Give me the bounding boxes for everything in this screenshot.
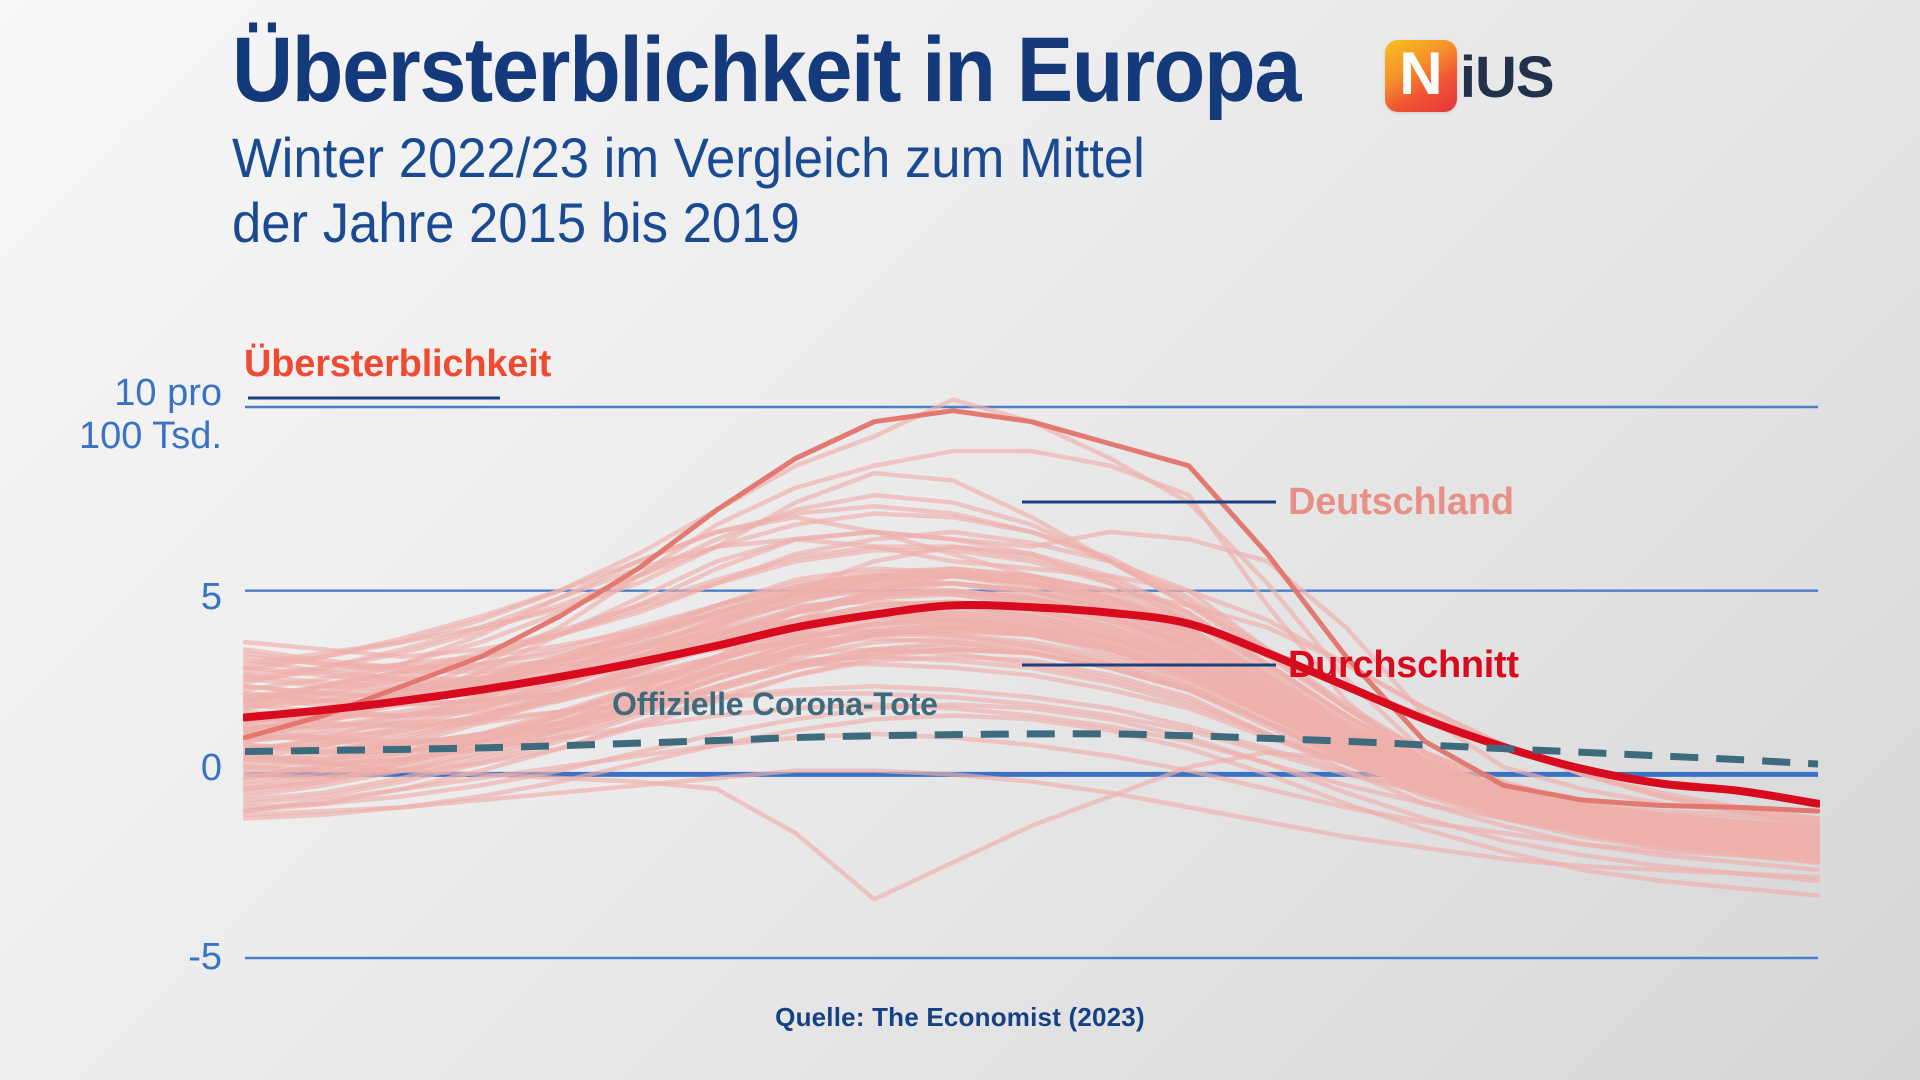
logo-badge-letter: N	[1399, 44, 1442, 104]
y-axis-label-minus5: -5	[22, 936, 222, 979]
country-line	[245, 620, 1818, 855]
country-line	[245, 569, 1818, 841]
y-axis-label-0: 0	[22, 747, 222, 790]
infographic-root: Übersterblichkeit in Europa N iUS Winter…	[0, 0, 1920, 1080]
country-line	[245, 624, 1818, 848]
country-line	[245, 532, 1818, 830]
country-line	[245, 591, 1818, 844]
annotation-offizielle-corona-tote: Offizielle Corona-Tote	[612, 686, 938, 723]
source-caption: Quelle: The Economist (2023)	[0, 1002, 1920, 1033]
country-line	[245, 616, 1818, 825]
country-line	[245, 627, 1818, 855]
country-line	[245, 583, 1818, 840]
country-line	[245, 602, 1818, 855]
country-line	[245, 664, 1818, 829]
country-line	[245, 506, 1818, 837]
country-line	[245, 638, 1818, 829]
y-axis-label-10: 10 pro 100 Tsd.	[22, 372, 222, 457]
title-row: Übersterblichkeit in Europa N iUS	[232, 24, 1892, 116]
annotation-uebersterblichkeit: Übersterblichkeit	[244, 343, 551, 386]
country-line	[245, 705, 1818, 848]
covid-deaths-line	[245, 734, 1818, 764]
annotation-durchschnitt: Durchschnitt	[1288, 644, 1519, 687]
country-line	[245, 594, 1818, 847]
country-line	[245, 613, 1818, 852]
country-line	[245, 686, 1818, 851]
country-line	[245, 591, 1818, 844]
country-line	[245, 514, 1818, 834]
country-line	[245, 657, 1818, 870]
country-line	[245, 583, 1818, 840]
country-line	[245, 635, 1818, 841]
country-line	[245, 583, 1818, 840]
country-line	[245, 694, 1818, 834]
logo-wordmark: iUS	[1460, 49, 1554, 107]
country-line	[245, 576, 1818, 837]
header: Übersterblichkeit in Europa N iUS Winter…	[232, 24, 1892, 256]
country-line	[245, 716, 1818, 896]
country-lines	[245, 400, 1818, 900]
gridlines	[245, 407, 1818, 958]
country-line	[245, 473, 1818, 822]
country-line	[245, 532, 1818, 819]
country-line	[245, 649, 1818, 851]
country-line	[245, 649, 1818, 862]
country-line	[245, 576, 1818, 837]
average-line	[245, 605, 1818, 804]
country-line	[245, 627, 1818, 858]
country-line	[245, 657, 1818, 841]
country-line	[245, 580, 1818, 844]
country-line	[245, 587, 1818, 829]
logo-badge-icon: N	[1385, 40, 1457, 112]
leader-lines	[248, 398, 1276, 665]
annotation-deutschland: Deutschland	[1288, 481, 1514, 524]
country-line	[245, 539, 1818, 826]
country-line	[245, 569, 1818, 822]
country-line	[245, 734, 1818, 863]
country-line	[245, 705, 1818, 881]
country-line	[245, 576, 1818, 848]
country-line	[245, 572, 1818, 844]
country-line	[245, 532, 1818, 841]
country-line	[245, 591, 1818, 848]
country-line	[245, 576, 1818, 840]
country-line	[245, 605, 1818, 844]
country-line	[245, 572, 1818, 840]
page-subtitle: Winter 2022/23 im Vergleich zum Mittel d…	[232, 126, 1548, 256]
country-line	[245, 517, 1818, 818]
country-line	[245, 613, 1818, 844]
page-title: Übersterblichkeit in Europa	[232, 24, 1300, 116]
country-line	[245, 547, 1818, 834]
country-line	[245, 569, 1818, 841]
country-line	[245, 631, 1818, 848]
country-line	[245, 631, 1818, 851]
y-axis-label-5: 5	[22, 576, 222, 619]
country-line	[245, 624, 1818, 852]
country-line	[245, 550, 1818, 837]
country-line	[245, 642, 1818, 859]
country-line	[245, 576, 1818, 840]
country-line	[245, 495, 1818, 829]
country-line	[245, 602, 1818, 826]
country-line	[245, 771, 1818, 878]
country-line	[245, 627, 1818, 855]
nius-logo: N iUS	[1385, 40, 1554, 112]
country-line	[245, 591, 1818, 848]
country-line	[245, 631, 1818, 859]
country-line	[245, 400, 1818, 833]
country-line	[245, 752, 1818, 899]
country-line	[245, 451, 1818, 855]
country-line	[245, 609, 1818, 851]
country-line	[245, 591, 1818, 844]
germany-line	[245, 411, 1818, 811]
country-line	[245, 649, 1818, 847]
country-line	[245, 602, 1818, 844]
country-line	[245, 638, 1818, 855]
country-line	[245, 613, 1818, 844]
country-line	[245, 616, 1818, 851]
country-line	[245, 547, 1818, 837]
country-line	[245, 646, 1818, 844]
country-line	[245, 620, 1818, 848]
country-line	[245, 649, 1818, 855]
